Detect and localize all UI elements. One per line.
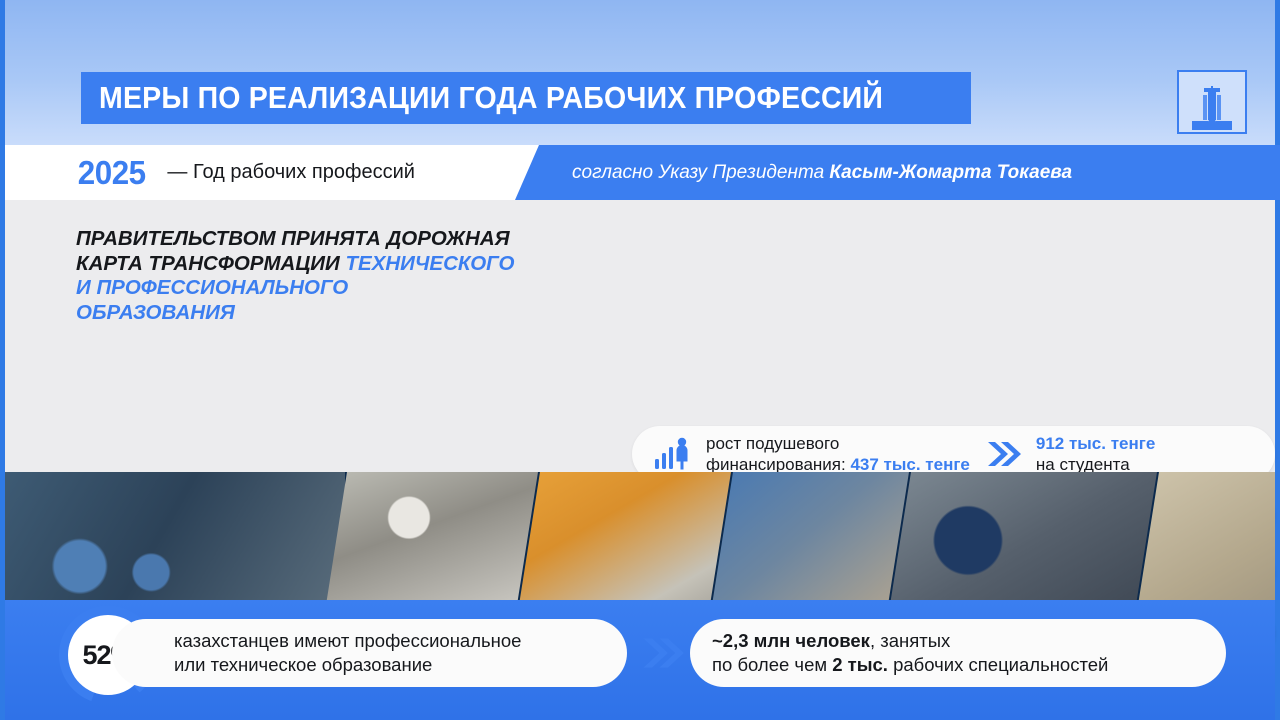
page-title: МЕРЫ ПО РЕАЛИЗАЦИИ ГОДА РАБОЧИХ ПРОФЕССИ… — [99, 80, 883, 116]
financing-line1: рост подушевого — [706, 434, 839, 453]
footer-right-line2-a: по более чем — [712, 654, 832, 675]
year-label: 2025 — [78, 154, 146, 192]
decree-prefix: согласно Указу Президента — [572, 162, 829, 183]
right-edge-strip — [1275, 0, 1280, 720]
roadmap-line4: ОБРАЗОВАНИЯ — [76, 301, 235, 324]
footer-people-count: ~2,3 млн человек — [712, 630, 870, 651]
roadmap-line1: ПРАВИТЕЛЬСТВОМ ПРИНЯТА ДОРОЖНАЯ — [76, 227, 510, 250]
roadmap-line2-highlight: ТЕХНИЧЕСКОГО — [346, 252, 515, 275]
footer-right-text: ~2,3 млн человек, занятых по более чем 2… — [712, 629, 1108, 677]
financing-result-value: 912 тыс. тенге — [1036, 434, 1155, 453]
double-chevron-right-icon — [986, 439, 1022, 469]
government-building-icon — [1190, 86, 1234, 132]
bar-chart-person-icon — [654, 437, 694, 471]
year-band: 2025 — Год рабочих профессий согласно Ук… — [5, 145, 1275, 200]
footer-right-statement[interactable]: ~2,3 млн человек, занятых по более чем 2… — [690, 619, 1226, 687]
roadmap-line2-plain: КАРТА ТРАНСФОРМАЦИИ — [76, 252, 346, 275]
infographic-page: МЕРЫ ПО РЕАЛИЗАЦИИ ГОДА РАБОЧИХ ПРОФЕССИ… — [0, 0, 1280, 720]
footer-right-line1-rest: , занятых — [870, 630, 950, 651]
footer-specialties-count: 2 тыс. — [832, 654, 888, 675]
footer-left-line1: казахстанцев имеют профессиональное — [174, 630, 521, 651]
page-title-bar: МЕРЫ ПО РЕАЛИЗАЦИИ ГОДА РАБОЧИХ ПРОФЕССИ… — [81, 72, 971, 124]
year-subtitle: — Год рабочих профессий — [167, 161, 415, 184]
decree-president-name: Касым-Жомарта Токаева — [829, 162, 1072, 183]
decree-text: согласно Указу Президента Касым-Жомарта … — [572, 162, 1072, 184]
footer-left-text: казахстанцев имеют профессиональное или … — [174, 629, 521, 677]
card-financing-left-text: рост подушевого финансирования: 437 тыс.… — [706, 433, 970, 476]
roadmap-line3: И ПРОФЕССИОНАЛЬНОГО — [76, 276, 348, 299]
footer-left-line2: или техническое образование — [174, 654, 432, 675]
card-financing-right-text: 912 тыс. тенге на студента — [1036, 433, 1155, 476]
footer-left-statement[interactable]: казахстанцев имеют профессиональное или … — [112, 619, 627, 687]
footer-right-line2-b: рабочих специальностей — [888, 654, 1108, 675]
decree-banner: согласно Указу Президента Касым-Жомарта … — [515, 145, 1280, 200]
hero-banner: МЕРЫ ПО РЕАЛИЗАЦИИ ГОДА РАБОЧИХ ПРОФЕССИ… — [5, 0, 1275, 145]
roadmap-statement: ПРАВИТЕЛЬСТВОМ ПРИНЯТА ДОРОЖНАЯ КАРТА ТР… — [76, 227, 621, 325]
content-section: ПРАВИТЕЛЬСТВОМ ПРИНЯТА ДОРОЖНАЯ КАРТА ТР… — [5, 200, 1275, 472]
government-emblem — [1177, 70, 1247, 134]
double-chevron-right-icon — [641, 634, 685, 677]
